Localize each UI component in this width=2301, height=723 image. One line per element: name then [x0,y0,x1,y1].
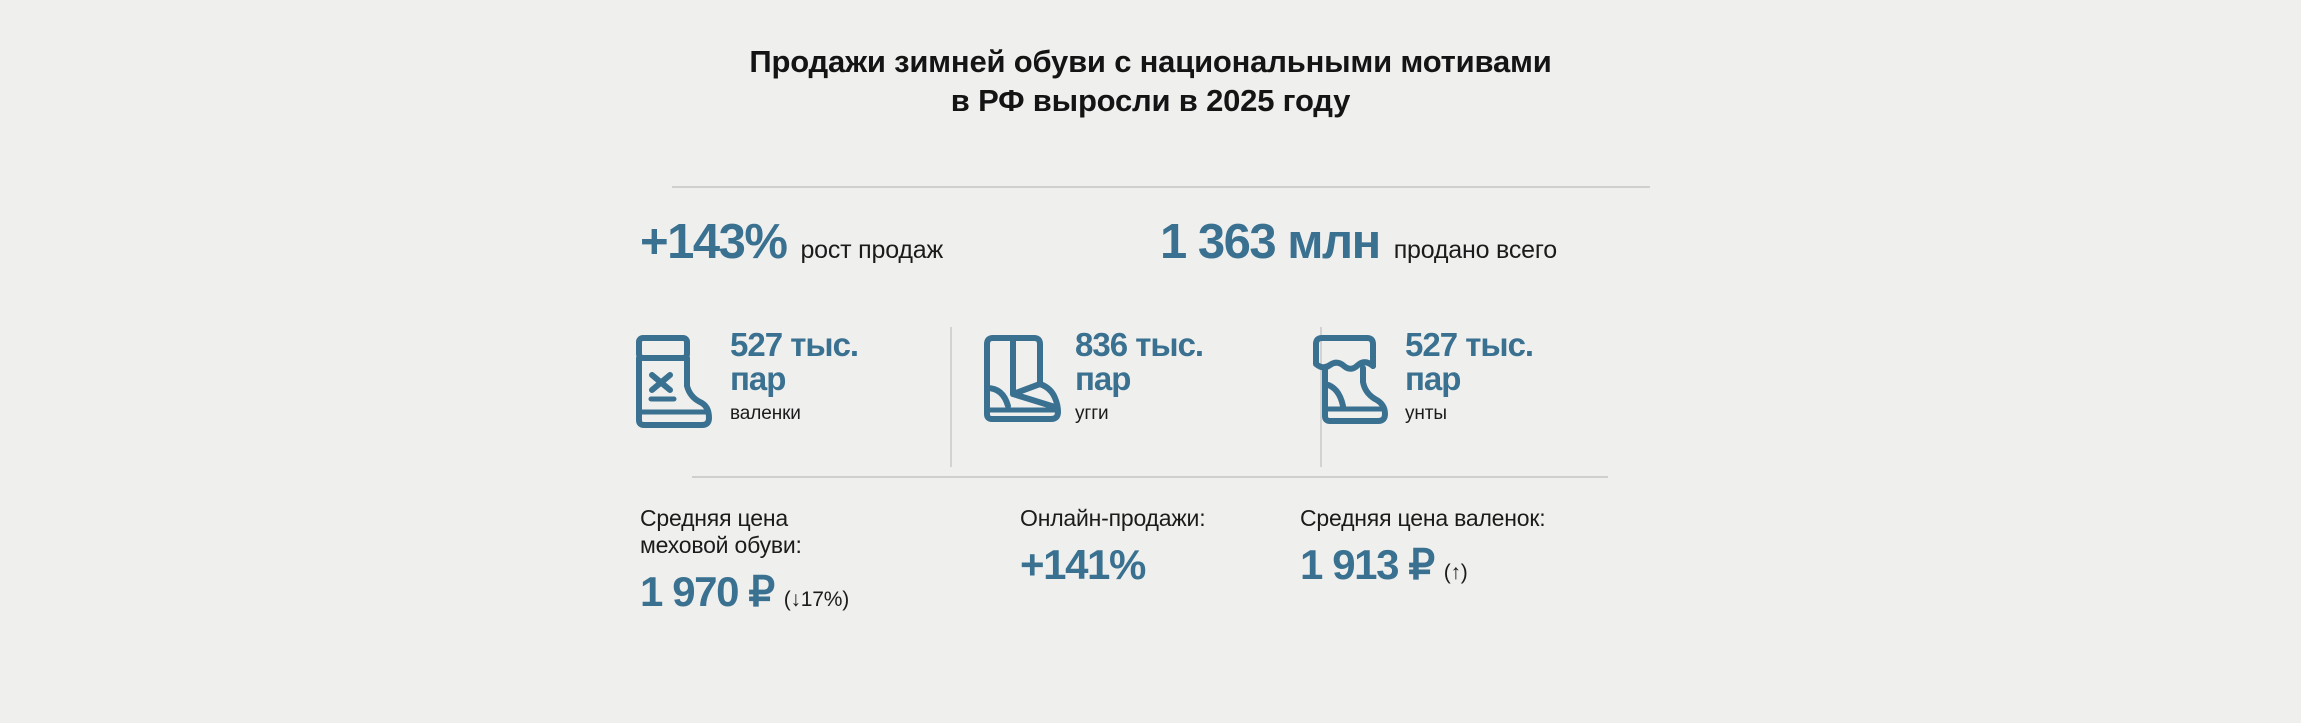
infographic-root: Продажи зимней обуви с национальными мот… [0,0,2301,723]
page-title: Продажи зимней обуви с национальными мот… [0,42,2301,120]
stat-online-sales-caption: Онлайн-продажи: [1020,505,1205,532]
divider-top [672,186,1650,188]
product-row: 527 тыс. пар валенки [630,328,1630,468]
kpi-total-sold-label: продано всего [1394,236,1557,264]
product-ugg-name: угги [1075,403,1203,425]
ugg-boot-icon [975,332,1061,432]
product-ugg: 836 тыс. пар угги [975,328,1203,448]
product-valenki-amount-line1: 527 тыс. [730,326,858,363]
stat-online-sales-value: +141% [1020,543,1145,587]
stat-average-valenki-price-value: 1 913 ₽ [1300,543,1434,587]
kpi-sales-growth: +143% рост продаж [640,216,943,268]
bottom-stats-row: Средняя цена меховой обуви: 1 970 ₽ (↓17… [640,505,1660,635]
product-unty-amount-line1: 527 тыс. [1405,326,1533,363]
headline-kpi-row: +143% рост продаж 1 363 млн продано всег… [640,216,1660,276]
stat-average-fur-price: Средняя цена меховой обуви: 1 970 ₽ (↓17… [640,505,849,614]
stat-average-valenki-price-caption: Средняя цена валенок: [1300,505,1545,532]
product-ugg-amount: 836 тыс. пар [1075,326,1203,397]
product-ugg-amount-line1: 836 тыс. [1075,326,1203,363]
product-unty-name: унты [1405,403,1533,425]
stat-online-sales: Онлайн-продажи: +141% [1020,505,1205,587]
unty-boot-icon [1305,332,1391,432]
product-ugg-text: 836 тыс. пар угги [1075,328,1203,425]
product-unty: 527 тыс. пар унты [1305,328,1533,448]
stat-average-fur-price-value: 1 970 ₽ [640,570,774,614]
stat-average-valenki-price-delta: (↑) [1444,561,1468,585]
stat-average-fur-price-valuerow: 1 970 ₽ (↓17%) [640,570,849,614]
kpi-total-sold-value: 1 363 млн [1160,216,1380,268]
stat-average-fur-price-caption: Средняя цена меховой обуви: [640,505,849,559]
title-line-1: Продажи зимней обуви с национальными мот… [0,42,2301,81]
product-valenki-name: валенки [730,403,858,425]
stat-online-sales-valuerow: +141% [1020,543,1205,587]
product-ugg-amount-line2: пар [1075,360,1130,397]
stat-average-fur-price-delta: (↓17%) [784,588,849,612]
title-line-2: в РФ выросли в 2025 году [0,81,2301,120]
kpi-total-sold: 1 363 млн продано всего [1160,216,1557,268]
kpi-sales-growth-value: +143% [640,216,786,268]
valenki-boot-icon [630,332,716,432]
product-valenki: 527 тыс. пар валенки [630,328,858,448]
divider-bottom [692,476,1608,478]
product-valenki-amount: 527 тыс. пар [730,326,858,397]
product-unty-amount-line2: пар [1405,360,1460,397]
product-valenki-amount-line2: пар [730,360,785,397]
stat-average-valenki-price-valuerow: 1 913 ₽ (↑) [1300,543,1545,587]
product-unty-text: 527 тыс. пар унты [1405,328,1533,425]
product-unty-amount: 527 тыс. пар [1405,326,1533,397]
kpi-sales-growth-label: рост продаж [800,236,943,264]
product-valenki-text: 527 тыс. пар валенки [730,328,858,425]
stat-average-valenki-price: Средняя цена валенок: 1 913 ₽ (↑) [1300,505,1545,587]
